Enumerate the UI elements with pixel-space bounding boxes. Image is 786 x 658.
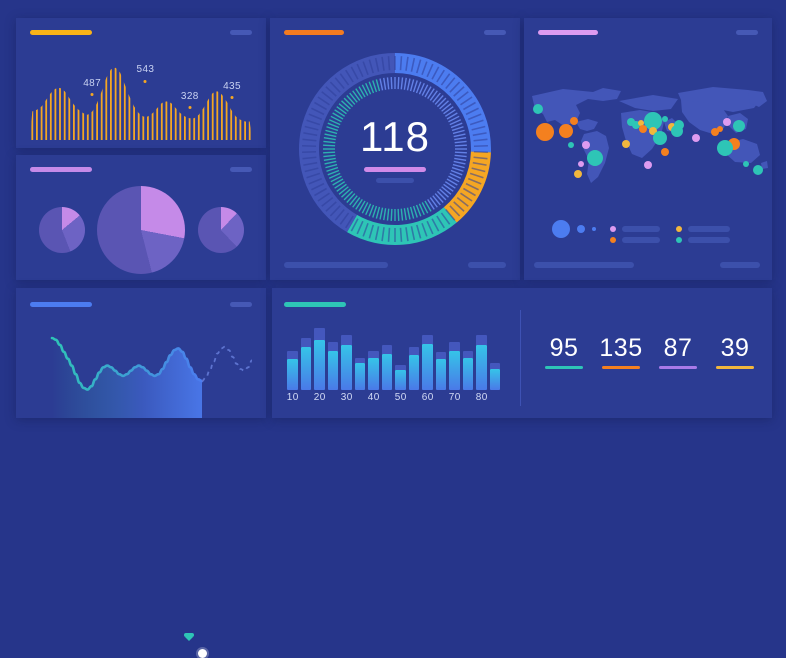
kpi-item[interactable]: 135 (595, 334, 647, 369)
kpi-value: 95 (538, 334, 590, 362)
gauge-value: 118 (325, 115, 465, 159)
map-legend-color-dot (676, 226, 682, 232)
bar-column[interactable] (368, 320, 379, 390)
area-chart-plot: 487543328435 (30, 56, 252, 140)
kpi-value: 87 (652, 334, 704, 362)
area-data-label: 487 (83, 78, 101, 89)
card-line-chart[interactable] (16, 288, 266, 418)
map-bubble-marker[interactable] (717, 140, 733, 156)
bar-chart-plot (286, 320, 502, 390)
dashboard-root: 487543328435 118 (0, 0, 786, 443)
bar-column[interactable] (301, 320, 312, 390)
map-bubble-marker[interactable] (644, 161, 652, 169)
card-pie-charts[interactable] (16, 155, 266, 280)
line-chart-tooltip (184, 633, 194, 637)
bar-segment-upper (395, 365, 406, 371)
bar-column[interactable] (355, 320, 366, 390)
bar-column[interactable] (436, 320, 447, 390)
map-legend-color-dot (610, 237, 616, 243)
pie-small-left[interactable] (39, 207, 85, 253)
map-plot-area[interactable] (528, 70, 768, 200)
card-menu-icon[interactable] (230, 30, 252, 35)
bar-segment-lower (355, 363, 366, 390)
card-footer-bar-left (534, 262, 634, 268)
bar-segment-lower (422, 344, 433, 390)
bar-x-tick-label: 80 (476, 392, 488, 403)
bar-x-tick-label: 10 (287, 392, 299, 403)
map-bubble-marker[interactable] (717, 126, 723, 132)
kpi-value: 39 (709, 334, 761, 362)
map-legend-color-dot (610, 226, 616, 232)
bar-segment-lower (395, 370, 406, 390)
kpi-underline (545, 366, 583, 369)
gauge-underline-primary (364, 167, 426, 172)
map-bubble-marker[interactable] (653, 131, 667, 145)
area-peak-marker-dot (231, 96, 234, 99)
kpi-value: 135 (595, 334, 647, 362)
card-menu-icon[interactable] (230, 302, 252, 307)
bar-segment-lower (409, 355, 420, 390)
bar-segment-upper (422, 335, 433, 343)
map-legend-size-scale (552, 220, 596, 238)
area-peak-marker-dot (91, 93, 94, 96)
pie-main-center[interactable] (97, 186, 185, 274)
card-menu-icon[interactable] (230, 167, 252, 172)
map-legend-label-bar (622, 237, 660, 243)
map-legend-entry[interactable] (676, 237, 730, 243)
area-peak-marker-dot (188, 106, 191, 109)
area-data-label: 435 (223, 81, 241, 92)
map-bubble-marker[interactable] (570, 117, 578, 125)
bar-column[interactable] (476, 320, 487, 390)
card-footer-bar-right (468, 262, 506, 268)
gauge-underline-secondary (376, 178, 414, 183)
kpi-underline (716, 366, 754, 369)
bar-segment-upper (409, 347, 420, 355)
bar-segment-lower (314, 340, 325, 390)
bar-segment-lower (463, 358, 474, 390)
card-vertical-divider (520, 310, 521, 406)
map-legend-size-bubble (592, 227, 596, 231)
area-peak-marker-dot (144, 80, 147, 83)
bar-x-tick-label: 40 (368, 392, 380, 403)
bar-segment-lower (328, 351, 339, 390)
card-title-accent-bar (284, 302, 346, 307)
map-legend-entry[interactable] (676, 226, 730, 232)
map-bubble-marker[interactable] (733, 120, 745, 132)
bar-segment-lower (287, 359, 298, 390)
bar-column[interactable] (449, 320, 460, 390)
bar-segment-lower (368, 358, 379, 390)
bar-column[interactable] (490, 320, 501, 390)
area-data-label: 543 (136, 64, 154, 75)
card-title-accent-bar (30, 30, 92, 35)
bar-column[interactable] (422, 320, 433, 390)
pie-small-right[interactable] (198, 207, 244, 253)
bar-segment-lower (382, 354, 393, 390)
bar-column[interactable] (328, 320, 339, 390)
bar-segment-lower (449, 351, 460, 390)
kpi-item[interactable]: 95 (538, 334, 590, 369)
card-title-accent-bar (30, 167, 92, 172)
map-bubble-marker[interactable] (674, 120, 684, 130)
map-legend-label-bar (688, 237, 730, 243)
bar-segment-lower (301, 347, 312, 390)
bar-x-tick-label: 30 (341, 392, 353, 403)
area-data-label: 328 (181, 91, 199, 102)
map-legend-label-bar (622, 226, 660, 232)
bar-column[interactable] (463, 320, 474, 390)
line-chart-active-point[interactable] (198, 649, 207, 658)
bar-segment-upper (287, 351, 298, 359)
card-title-accent-bar (30, 302, 92, 307)
card-footer-bar-left (284, 262, 388, 268)
card-area-chart[interactable]: 487543328435 (16, 18, 266, 148)
map-legend-color-dot (676, 237, 682, 243)
bar-segment-upper (436, 352, 447, 359)
bar-segment-upper (449, 342, 460, 350)
bar-chart-x-axis: 1020304050607080 (286, 392, 502, 408)
card-title-accent-bar (538, 30, 598, 35)
card-world-map[interactable] (524, 18, 772, 280)
card-radial-gauge[interactable]: 118 (270, 18, 520, 280)
bar-column[interactable] (409, 320, 420, 390)
bar-segment-upper (368, 351, 379, 358)
bar-column[interactable] (287, 320, 298, 390)
bar-segment-upper (476, 335, 487, 345)
bar-segment-upper (314, 328, 325, 339)
map-bubble-marker[interactable] (661, 148, 669, 156)
bar-column[interactable] (341, 320, 352, 390)
map-bubble-marker[interactable] (692, 134, 700, 142)
kpi-item[interactable]: 87 (652, 334, 704, 369)
bar-segment-upper (328, 342, 339, 350)
bar-column[interactable] (395, 320, 406, 390)
map-legend-entry[interactable] (610, 226, 660, 232)
bar-column[interactable] (314, 320, 325, 390)
card-footer-bar-right (720, 262, 760, 268)
map-bubble-marker[interactable] (639, 125, 647, 133)
bar-segment-upper (301, 338, 312, 346)
map-bubble-marker[interactable] (533, 104, 543, 114)
bar-segment-lower (476, 345, 487, 390)
map-legend-size-bubble (552, 220, 570, 238)
bar-segment-upper (463, 351, 474, 358)
bar-column[interactable] (382, 320, 393, 390)
bar-segment-lower (436, 359, 447, 390)
kpi-underline (602, 366, 640, 369)
bar-x-tick-label: 20 (314, 392, 326, 403)
bar-segment-upper (355, 358, 366, 364)
map-bubble-marker[interactable] (582, 141, 590, 149)
bar-x-tick-label: 70 (449, 392, 461, 403)
map-legend-entry[interactable] (610, 237, 660, 243)
bar-segment-upper (382, 345, 393, 353)
bar-segment-lower (341, 345, 352, 390)
card-menu-icon[interactable] (736, 30, 758, 35)
gauge-center-readout: 118 (325, 115, 465, 183)
map-bubble-marker[interactable] (578, 161, 584, 167)
kpi-underline (659, 366, 697, 369)
bar-x-tick-label: 60 (422, 392, 434, 403)
line-chart-svg (16, 318, 266, 418)
bar-segment-lower (490, 369, 501, 390)
bar-segment-upper (490, 363, 501, 369)
map-legend-size-bubble (577, 225, 585, 233)
bar-x-tick-label: 50 (395, 392, 407, 403)
bar-segment-upper (341, 335, 352, 345)
map-legend-label-bar (688, 226, 730, 232)
card-bars-and-kpis[interactable]: 1020304050607080 951358739 (272, 288, 772, 418)
kpi-item[interactable]: 39 (709, 334, 761, 369)
